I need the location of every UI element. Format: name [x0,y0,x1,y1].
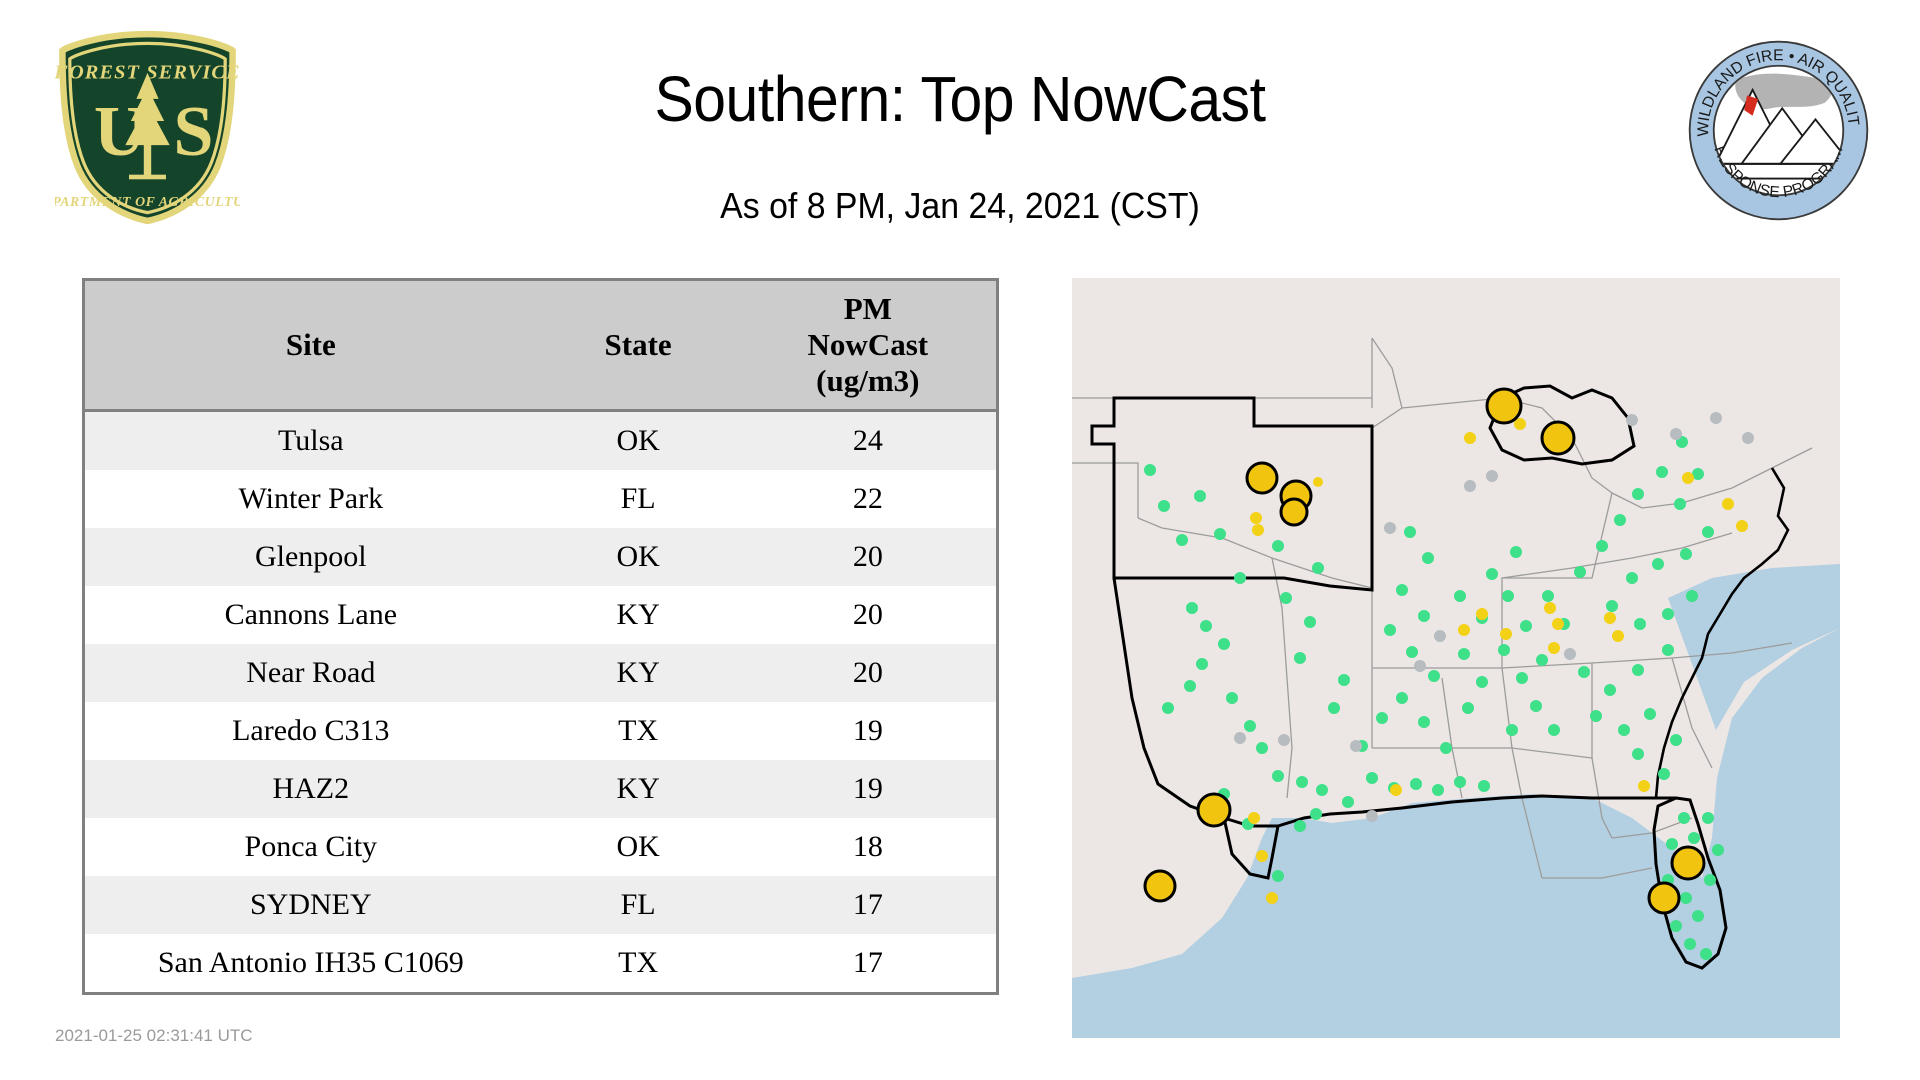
cell-site: Winter Park [85,470,537,528]
table-row: HAZ2KY19 [85,760,996,818]
cell-state: OK [537,818,740,876]
cell-state: KY [537,760,740,818]
column-header-site: Site [85,281,537,410]
cell-site: Glenpool [85,528,537,586]
marker-sydney [1649,883,1679,913]
cell-value: 19 [740,760,996,818]
column-header-state: State [537,281,740,410]
cell-site: Laredo C313 [85,702,537,760]
cell-site: HAZ2 [85,760,537,818]
table-row: SYDNEYFL17 [85,876,996,934]
cell-value: 24 [740,410,996,470]
cell-value: 20 [740,528,996,586]
generation-timestamp: 2021-01-25 02:31:41 UTC [55,1026,253,1046]
table-row: Ponca CityOK18 [85,818,996,876]
column-header-line-3: (ug/m3) [744,363,992,399]
air-quality-map[interactable]: Air Quality Index HazardousVery Unhealth… [1072,278,1840,1038]
marker-haz2 [1542,422,1574,454]
cell-site: San Antonio IH35 C1069 [85,934,537,992]
cell-state: OK [537,528,740,586]
marker-ponca-city [1281,499,1307,525]
table-row: Cannons LaneKY20 [85,586,996,644]
table-row: TulsaOK24 [85,410,996,470]
cell-site: Cannons Lane [85,586,537,644]
table-header-row: Site State PM NowCast (ug/m3) [85,281,996,410]
cell-value: 17 [740,876,996,934]
cell-site: Near Road [85,644,537,702]
table-body: TulsaOK24Winter ParkFL22GlenpoolOK20Cann… [85,410,996,992]
cell-state: TX [537,702,740,760]
map-canvas [1072,278,1840,1038]
marker-winter-park [1672,847,1704,879]
cell-state: FL [537,876,740,934]
cell-state: TX [537,934,740,992]
column-header-pm-nowcast: PM NowCast (ug/m3) [740,281,996,410]
page-title: Southern: Top NowCast [77,62,1843,136]
table-row: Laredo C313TX19 [85,702,996,760]
cell-state: OK [537,410,740,470]
cell-value: 20 [740,586,996,644]
cell-value: 17 [740,934,996,992]
marker-cannons-lane [1487,389,1521,423]
cell-state: KY [537,644,740,702]
cell-value: 18 [740,818,996,876]
cell-value: 22 [740,470,996,528]
column-header-line-1: PM [744,291,992,327]
marker-san-antonio [1198,794,1230,826]
table-row: Winter ParkFL22 [85,470,996,528]
cell-state: KY [537,586,740,644]
table-row: GlenpoolOK20 [85,528,996,586]
marker-laredo [1145,871,1175,901]
cell-value: 20 [740,644,996,702]
column-header-line-2: NowCast [744,327,992,363]
cell-site: Ponca City [85,818,537,876]
cell-state: FL [537,470,740,528]
page-subtitle: As of 8 PM, Jan 24, 2021 (CST) [58,185,1863,227]
cell-value: 19 [740,702,996,760]
table-row: San Antonio IH35 C1069TX17 [85,934,996,992]
cell-site: Tulsa [85,410,537,470]
cell-site: SYDNEY [85,876,537,934]
marker-tulsa [1247,463,1277,493]
top-nowcast-table: Site State PM NowCast (ug/m3) TulsaOK24W… [82,278,999,995]
table-row: Near RoadKY20 [85,644,996,702]
